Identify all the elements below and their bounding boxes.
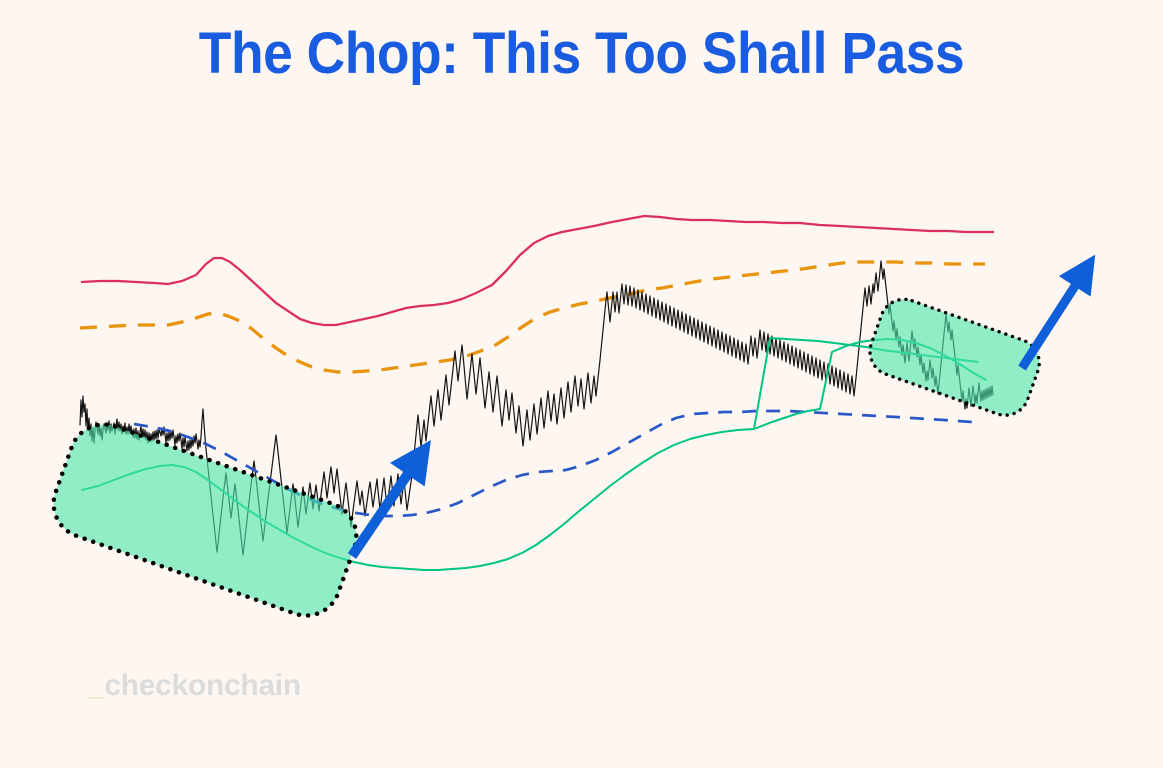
left-breakout-arrow [352,459,418,556]
price-chart [0,0,1163,768]
series-upper-band-crimson [82,216,993,325]
right-breakout-arrow [1022,272,1084,368]
watermark-underscore: _ [88,669,104,702]
right-chop-zone [863,293,1046,422]
series-mid-band-orange [80,262,985,372]
watermark-label: checkonchain [104,669,300,702]
left-chop-zone [44,415,366,625]
chart-canvas: The Chop: This Too Shall Pass [0,0,1163,768]
watermark-checkonchain: _checkonchain [88,669,301,703]
